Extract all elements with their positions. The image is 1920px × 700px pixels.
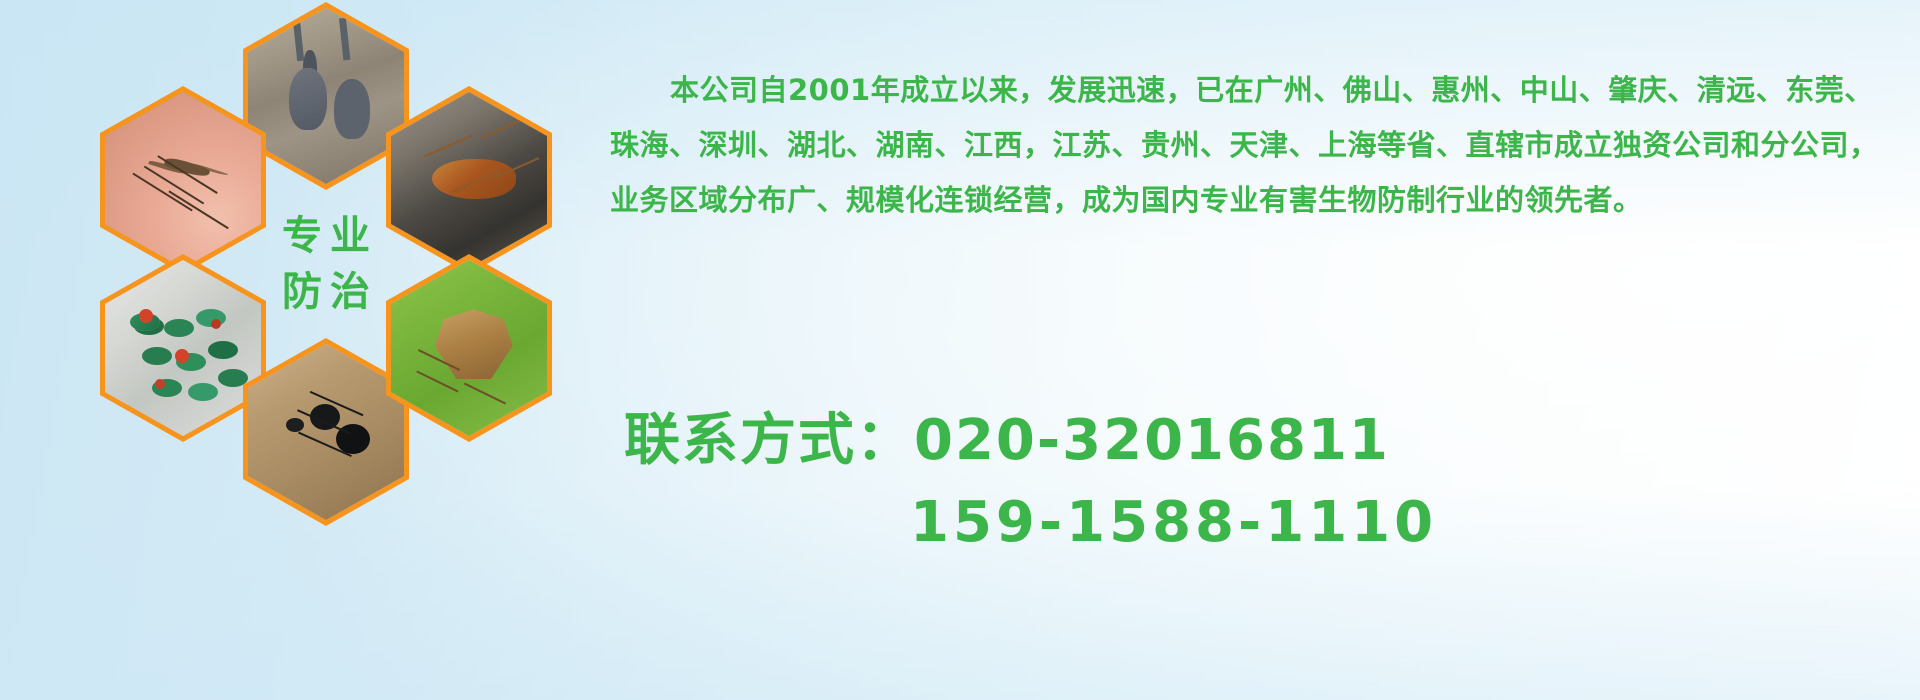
hex-cell-cockroach[interactable] [386, 86, 552, 274]
hex-cell-rat[interactable] [243, 2, 409, 190]
stinkbug-photo [391, 260, 547, 436]
hex-cell-stinkbug-inner [391, 260, 547, 436]
hex-cell-mosquito[interactable] [100, 86, 266, 274]
honeycomb-cluster: 专业 防治 [75, 0, 595, 608]
mosquito-photo [105, 92, 261, 268]
fly-photo [105, 260, 261, 436]
contact-block: 联系方式：020-32016811 159-1588-1110 [610, 400, 1900, 564]
ant-photo [248, 344, 404, 520]
hex-cell-ant-inner [248, 344, 404, 520]
hex-cell-ant[interactable] [243, 338, 409, 526]
hex-cell-fly-inner [105, 260, 261, 436]
contact-line-secondary[interactable]: 159-1588-1110 [610, 482, 1900, 564]
rat-photo [248, 8, 404, 184]
hive-center-label-line2: 防治 [274, 272, 378, 312]
hex-cell-cockroach-inner [391, 92, 547, 268]
hex-cell-stinkbug[interactable] [386, 254, 552, 442]
hex-cell-rat-inner [248, 8, 404, 184]
cockroach-photo [391, 92, 547, 268]
company-intro-paragraph: 本公司自2001年成立以来，发展迅速，已在广州、佛山、惠州、中山、肇庆、清远、东… [610, 63, 1900, 228]
banner-content: 本公司自2001年成立以来，发展迅速，已在广州、佛山、惠州、中山、肇庆、清远、东… [610, 0, 1910, 700]
hive-center-label-line1: 专业 [274, 216, 378, 256]
hex-cell-fly[interactable] [100, 254, 266, 442]
contact-line-primary[interactable]: 联系方式：020-32016811 [610, 400, 1900, 482]
hive-center-label: 专业 防治 [243, 170, 409, 358]
hex-cell-mosquito-inner [105, 92, 261, 268]
